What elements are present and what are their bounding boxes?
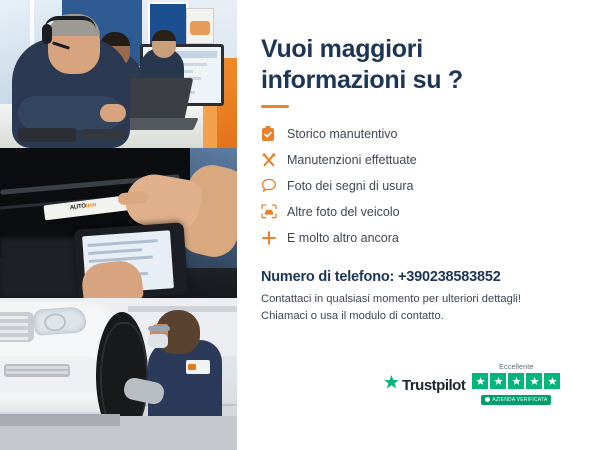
star-filled-3 <box>508 373 524 389</box>
feature-list: Storico manutentivo Manutenzioni effettu… <box>261 121 588 250</box>
contact-subtext: Contattaci in qualsiasi momento per ulte… <box>261 291 588 326</box>
title-divider <box>261 105 289 108</box>
trustpilot-star-icon <box>383 374 400 396</box>
list-item: E molto altro ancora <box>261 225 588 250</box>
call-center-agents-photo: Operatori con cuffie al telefono in uffi… <box>0 0 237 148</box>
headline-line-2: informazioni su ? <box>261 66 463 94</box>
star-filled-2 <box>490 373 506 389</box>
list-item-label: Foto dei segni di usura <box>287 179 413 193</box>
clipboard-check-icon <box>261 126 287 142</box>
vehicle-label-tablet-photo: AUTOuno Tecnico applica etichetta su aut… <box>0 148 237 298</box>
contact-subtext-line-2: Chiamaci o usa il modulo di contatto. <box>261 310 444 322</box>
list-item: Altre foto del veicolo <box>261 199 588 224</box>
list-item-label: E molto altro ancora <box>287 231 399 245</box>
trustpilot-logo: Trustpilot <box>383 374 465 396</box>
phone-number[interactable]: Numero di telefono: +390238583852 <box>261 269 588 285</box>
rating-label: Eccellente <box>472 364 560 371</box>
trustpilot-rating[interactable]: Trustpilot Eccellente AZIENDA VERIFICATA <box>383 364 560 407</box>
advertisement-banner: Operatori con cuffie al telefono in uffi… <box>0 0 600 450</box>
star-filled-1 <box>472 373 488 389</box>
trustpilot-name: Trustpilot <box>402 377 465 394</box>
car-photo-frame-icon <box>261 204 287 219</box>
photo-column: Operatori con cuffie al telefono in uffi… <box>0 0 237 450</box>
content-panel: Vuoi maggiori informazioni su ? Storico … <box>237 0 600 450</box>
star-filled-5 <box>544 373 560 389</box>
contact-subtext-line-1: Contattaci in qualsiasi momento per ulte… <box>261 293 521 305</box>
mechanic-wheel-inspection-photo: Meccanico controlla la ruota di un'auto … <box>0 298 237 450</box>
verified-label: AZIENDA VERIFICATA <box>492 397 547 403</box>
verified-business-badge: AZIENDA VERIFICATA <box>481 395 551 405</box>
list-item: Foto dei segni di usura <box>261 173 588 198</box>
star-filled-4 <box>526 373 542 389</box>
list-item-label: Altre foto del veicolo <box>287 205 400 219</box>
list-item: Storico manutentivo <box>261 121 588 146</box>
plus-icon <box>261 230 287 246</box>
list-item-label: Storico manutentivo <box>287 127 397 141</box>
check-circle-icon <box>485 397 490 402</box>
speech-bubble-icon <box>261 178 287 193</box>
page-title: Vuoi maggiori informazioni su ? <box>261 0 471 95</box>
list-item: Manutenzioni effettuate <box>261 147 588 172</box>
wrench-cross-icon <box>261 152 287 168</box>
headline-line-1: Vuoi maggiori <box>261 35 423 63</box>
star-rating <box>472 373 560 389</box>
list-item-label: Manutenzioni effettuate <box>287 153 417 167</box>
